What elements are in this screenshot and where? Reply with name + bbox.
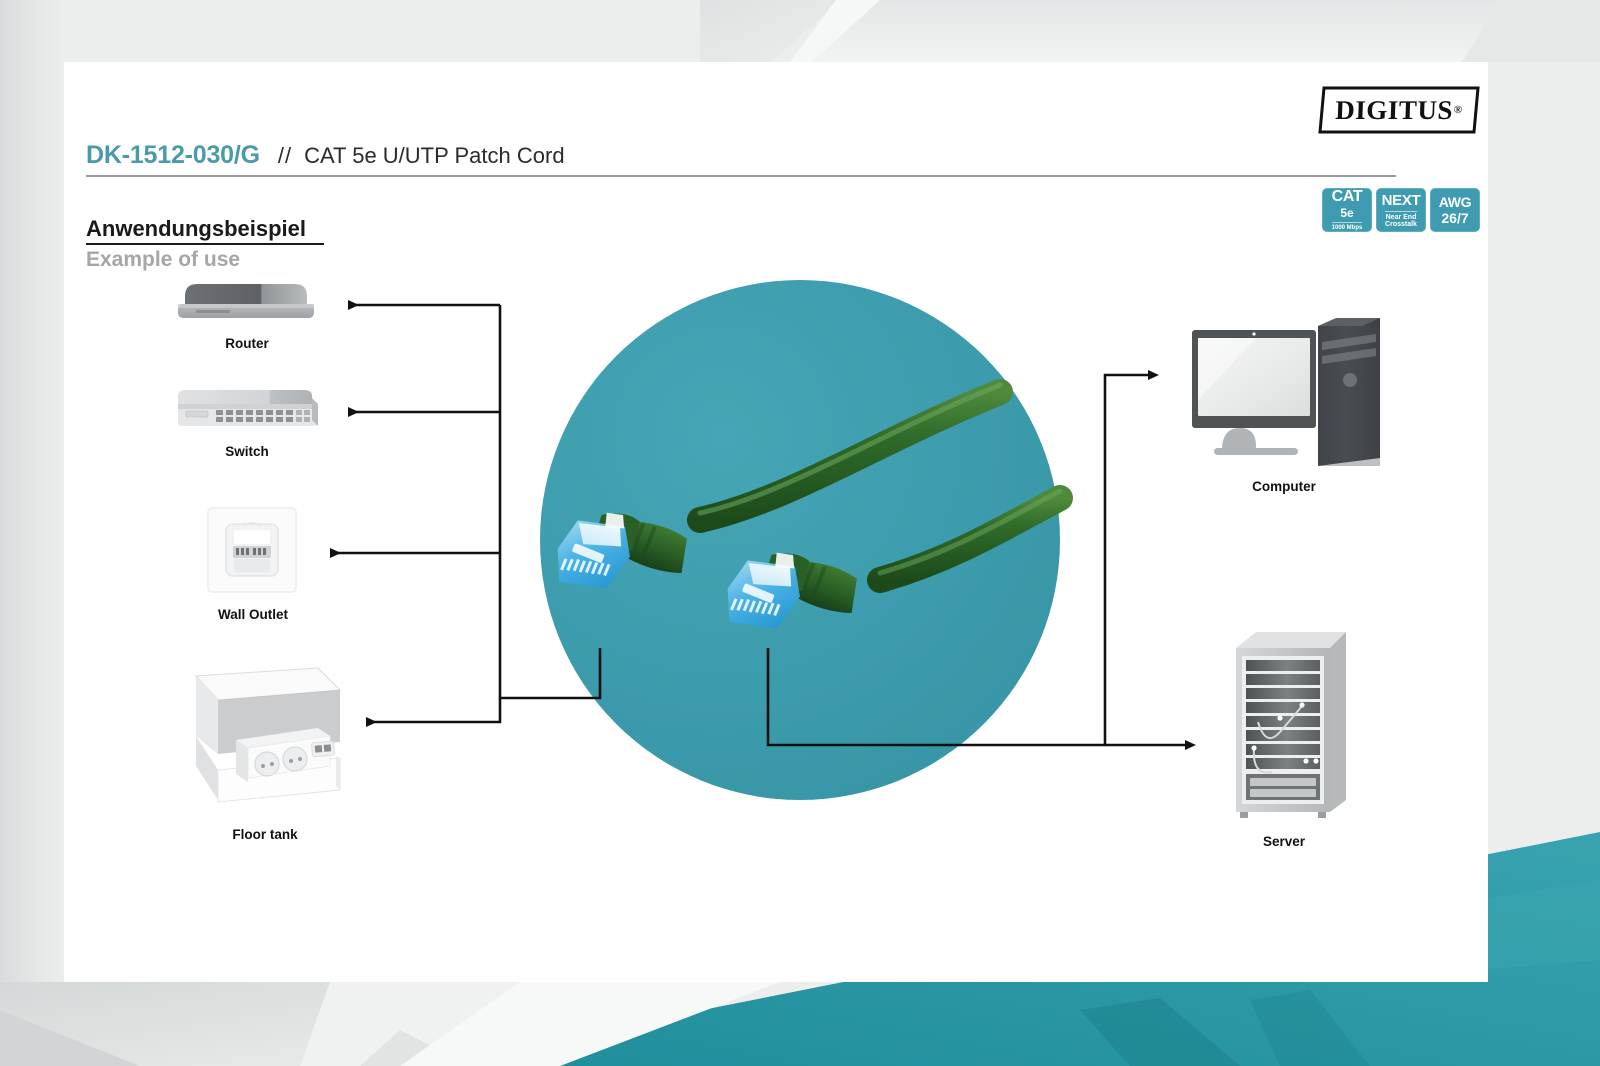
cat-badge-line1: CAT bbox=[1332, 189, 1363, 205]
product-title-row: DK-1512-030/G // CAT 5e U/UTP Patch Cord bbox=[86, 141, 1396, 170]
awg-badge-line2: 26/7 bbox=[1441, 211, 1468, 225]
logo-registered-mark: ® bbox=[1454, 104, 1463, 116]
cat-badge-line2: 5e bbox=[1340, 207, 1353, 219]
cat-badge-line3: 1000 Mbps bbox=[1332, 222, 1363, 231]
awg-badge-line1: AWG bbox=[1439, 195, 1472, 209]
router-label: Router bbox=[186, 336, 308, 351]
next-badge-line1: NEXT bbox=[1382, 193, 1421, 208]
logo-text: DIGITUS bbox=[1335, 95, 1454, 126]
computer-label: Computer bbox=[1222, 479, 1346, 494]
section-heading-de: Anwendungsbeispiel bbox=[86, 216, 306, 242]
section-heading-underline bbox=[86, 243, 324, 245]
title-separator: // bbox=[278, 143, 292, 169]
floor-tank-label: Floor tank bbox=[204, 827, 326, 842]
section-heading-en: Example of use bbox=[86, 248, 240, 272]
product-datasheet-page: DIGITUS® DK-1512-030/G // CAT 5e U/UTP P… bbox=[0, 0, 1600, 1066]
logo-wordmark: DIGITUS® bbox=[1317, 86, 1481, 134]
title-divider bbox=[86, 175, 1396, 177]
product-sku: DK-1512-030/G bbox=[86, 141, 260, 170]
awg-badge: AWG 26/7 bbox=[1430, 188, 1480, 232]
product-name: CAT 5e U/UTP Patch Cord bbox=[304, 143, 564, 169]
server-label: Server bbox=[1222, 834, 1346, 849]
next-badge: NEXT Near End Crosstalk bbox=[1376, 188, 1426, 232]
next-badge-line2: Near End Crosstalk bbox=[1385, 211, 1417, 228]
digitus-logo: DIGITUS® bbox=[1318, 86, 1480, 134]
switch-label: Switch bbox=[186, 444, 308, 459]
wall-outlet-label: Wall Outlet bbox=[192, 607, 314, 622]
spec-badges: CAT 5e 1000 Mbps NEXT Near End Crosstalk… bbox=[1322, 188, 1480, 232]
cat-badge: CAT 5e 1000 Mbps bbox=[1322, 188, 1372, 232]
